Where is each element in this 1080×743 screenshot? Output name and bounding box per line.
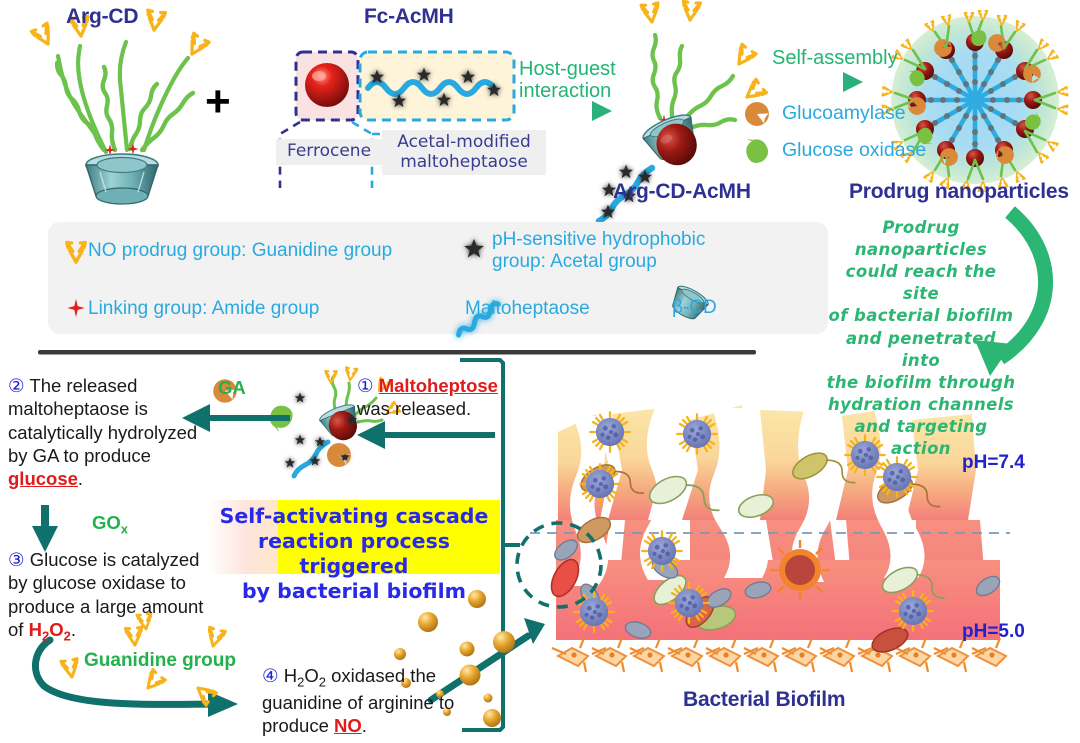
note-line-5: the biofilm through <box>826 372 1016 394</box>
section-divider <box>38 350 756 355</box>
note-line-3: of bacterial biofilm <box>826 305 1016 327</box>
step-4-o: O <box>304 665 318 686</box>
step-4-period: . <box>362 715 367 736</box>
step-4-line1-rest: oxidased the <box>326 665 436 686</box>
step-2-text: ② The released maltoheptaose is catalyti… <box>8 374 223 490</box>
legend-item-amide: Linking group: Amide group <box>88 298 319 319</box>
label-ferrocene: Ferrocene <box>276 139 382 165</box>
penetration-note: Prodrug nanoparticles could reach the si… <box>826 217 1016 460</box>
label-acetal-maltoheptaose: Acetal-modified maltoheptaose <box>382 130 546 175</box>
legend-item-maltoheptaose: Maltoheptaose <box>465 298 590 319</box>
beta-cd-cone-icon <box>86 154 158 204</box>
label-acetal-line2: maltoheptaose <box>389 153 539 173</box>
banner-line3: by bacterial biofilm <box>208 579 500 604</box>
label-glucose-oxidase: Glucose oxidase <box>782 140 926 162</box>
step-3-text: ③ Glucose is catalyzed by glucose oxidas… <box>8 548 238 645</box>
step-3-number: ③ <box>8 549 30 570</box>
legend-acetal-line2: group: Acetal group <box>492 251 742 273</box>
title-bacterial-biofilm: Bacterial Biofilm <box>683 688 845 712</box>
banner-line2: reaction process triggered <box>208 529 500 579</box>
step-3-o-sub: 2 <box>64 629 71 644</box>
label-self-assembly: Self-assembly <box>772 47 898 69</box>
step-3-line1: Glucose is catalyzed <box>30 549 200 570</box>
label-glucoamylase: Glucoamylase <box>782 103 906 125</box>
title-fc-acmh: Fc-AcMH <box>364 5 454 29</box>
arrow-to-step3 <box>32 505 58 552</box>
step-2-highlight: glucose <box>8 468 78 489</box>
step-4-text: ④ H2O2 oxidased the guanidine of arginin… <box>262 664 492 738</box>
step-3-line3: produce a large amount <box>8 595 238 618</box>
note-line-6: hydration channels <box>826 394 1016 416</box>
step-4-h: H <box>284 665 297 686</box>
step-4-number: ④ <box>262 665 284 686</box>
step-1-highlight: Maltoheptose <box>379 375 498 396</box>
step-4-highlight: NO <box>334 715 362 736</box>
step-4-line2: guanidine of arginine to <box>262 691 492 714</box>
host-guest-arrow <box>520 101 612 121</box>
title-prodrug-nanoparticles: Prodrug nanoparticles <box>849 180 1069 204</box>
ph-label-bottom: pH=5.0 <box>962 621 1025 643</box>
legend-acetal-line1: pH-sensitive hydrophobic <box>492 229 742 251</box>
gox-main: GO <box>92 512 121 533</box>
step-3-period: . <box>71 619 76 640</box>
step-2-line1: The released <box>29 375 137 396</box>
ferrocene-sphere <box>305 63 349 107</box>
arrow-to-step1 <box>357 421 495 449</box>
note-line-4: and penetrated into <box>826 328 1016 372</box>
label-host-guest-interaction: Host-guest interaction <box>519 58 616 103</box>
step-2-period: . <box>78 468 83 489</box>
arg-cd-structure <box>31 10 208 204</box>
step-3-of: of <box>8 619 29 640</box>
prodrug-nanoparticle-icon <box>882 11 1067 192</box>
host-guest-line2: interaction <box>519 80 616 102</box>
guanidine-arrow-icon <box>67 243 85 263</box>
step-1-line2: was released. <box>357 397 517 420</box>
gox-subscript: x <box>121 522 128 537</box>
step-3-h: H <box>29 619 42 640</box>
legend-item-guanidine: NO prodrug group: Guanidine group <box>88 240 392 261</box>
glucose-oxidase-icon <box>742 134 771 165</box>
plus-symbol: + <box>205 80 231 124</box>
legend-item-beta-cd: β-CD <box>672 297 717 318</box>
legend-item-acetal: pH-sensitive hydrophobic group: Acetal g… <box>492 229 742 273</box>
glucoamylase-icon <box>741 98 773 130</box>
cascade-banner-text: Self-activating cascade reaction process… <box>208 504 500 604</box>
note-line-1: Prodrug nanoparticles <box>826 217 1016 261</box>
step-3-o: O <box>49 619 63 640</box>
figure-canvas: Arg-CD + Fc-AcMH Ferrocene Acetal-modifi… <box>0 0 1080 743</box>
title-arg-cd-acmh: Arg-CD-AcMH <box>613 180 751 204</box>
step-2-line4: by GA to produce <box>8 444 223 467</box>
label-guanidine-group: Guanidine group <box>84 650 236 672</box>
banner-line1: Self-activating cascade <box>208 504 500 529</box>
amide-cross-icon <box>67 299 84 317</box>
step-2-number: ② <box>8 375 29 396</box>
label-gox: GOx <box>92 512 128 537</box>
step-2-line3: catalytically hydrolyzed <box>8 421 223 444</box>
label-ga: GA <box>218 377 246 399</box>
ph-label-top: pH=7.4 <box>962 452 1025 474</box>
step-3-line2: by glucose oxidase to <box>8 571 238 594</box>
step-4-produce: produce <box>262 715 334 736</box>
title-arg-cd: Arg-CD <box>66 5 138 29</box>
step-4-o-sub: 2 <box>319 675 326 690</box>
note-line-2: could reach the site <box>826 261 1016 305</box>
label-acetal-line1: Acetal-modified <box>389 133 539 153</box>
step-2-line2: maltoheptaose is <box>8 397 223 420</box>
self-assembly-arrow <box>770 72 863 92</box>
step-1-number: ① <box>357 375 379 396</box>
host-guest-line1: Host-guest <box>519 58 616 80</box>
acetal-star-icon <box>464 239 484 258</box>
step-1-text: ① Maltoheptose was released. <box>357 374 517 421</box>
